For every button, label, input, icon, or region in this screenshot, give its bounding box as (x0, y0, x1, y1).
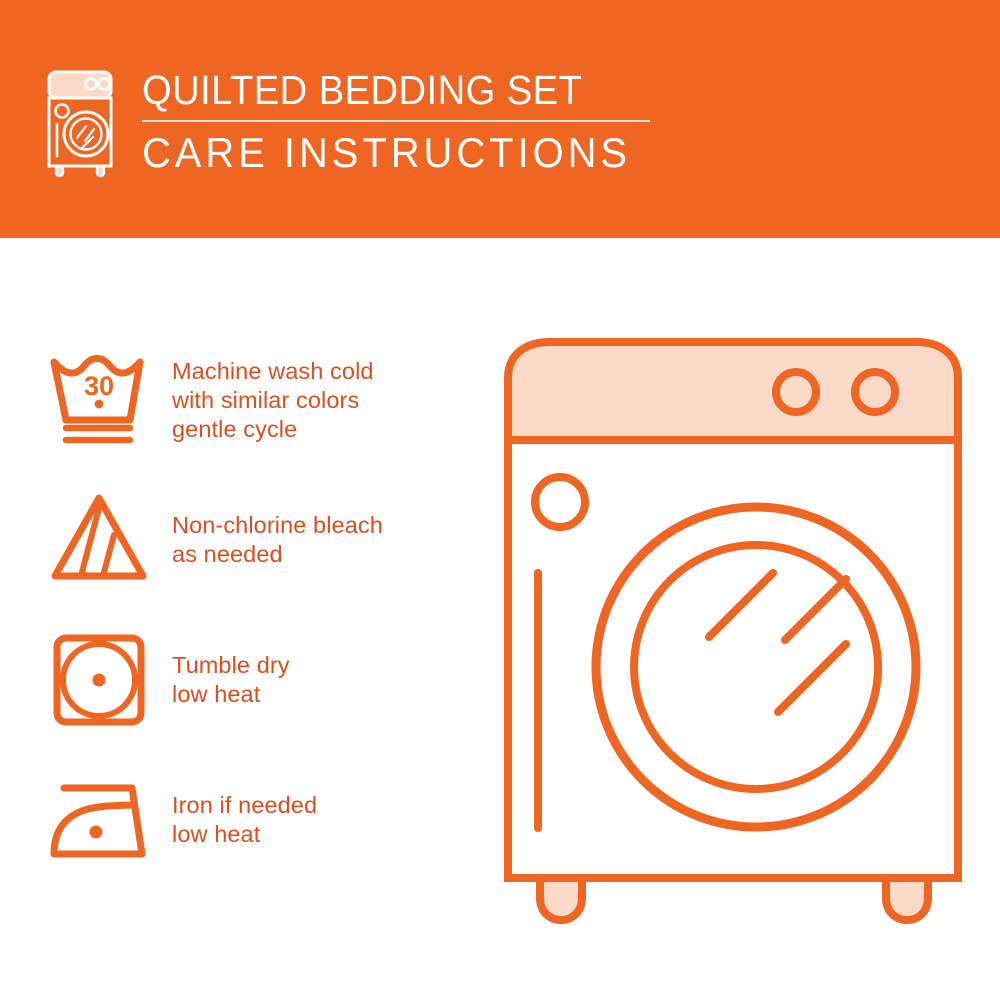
page-subtitle: CARE INSTRUCTIONS (142, 131, 631, 175)
header-title-block: QUILTED BEDDING SET CARE INSTRUCTIONS (142, 68, 657, 175)
care-row-iron: Iron if needed low heat (46, 750, 476, 890)
header-content: QUILTED BEDDING SET CARE INSTRUCTIONS (44, 68, 657, 178)
wash-temperature-label: 30 (84, 371, 114, 401)
care-row-tumble-dry: Tumble dry low heat (46, 610, 476, 750)
title-divider (142, 120, 650, 122)
care-label-bleach: Non-chlorine bleach as needed (172, 511, 383, 569)
care-row-wash: 30 Machine wash cold with similar colors… (46, 330, 476, 470)
bleach-symbol-wrapper (46, 488, 172, 592)
tumble-dry-symbol (46, 628, 156, 732)
care-instruction-list: 30 Machine wash cold with similar colors… (46, 330, 476, 890)
iron-symbol (46, 772, 162, 868)
wash-tub-symbol: 30 (46, 348, 156, 452)
washing-machine-illustration (498, 330, 968, 930)
page-header: QUILTED BEDDING SET CARE INSTRUCTIONS (0, 0, 1000, 238)
page-title: QUILTED BEDDING SET (142, 68, 621, 112)
foot-left (540, 878, 582, 920)
care-row-bleach: Non-chlorine bleach as needed (46, 470, 476, 610)
tumble-dry-symbol-wrapper (46, 628, 172, 732)
care-label-tumble-dry: Tumble dry low heat (172, 651, 290, 709)
care-label-wash: Machine wash cold with similar colors ge… (172, 357, 374, 444)
care-label-iron: Iron if needed low heat (172, 791, 317, 849)
control-panel (508, 342, 958, 440)
iron-symbol-wrapper (46, 772, 172, 868)
wash-symbol-wrapper: 30 (46, 348, 172, 452)
bleach-triangle-symbol (46, 488, 156, 592)
care-instructions-page: QUILTED BEDDING SET CARE INSTRUCTIONS 30… (0, 0, 1000, 1000)
washing-machine-icon (44, 68, 116, 178)
foot-right (886, 878, 928, 920)
